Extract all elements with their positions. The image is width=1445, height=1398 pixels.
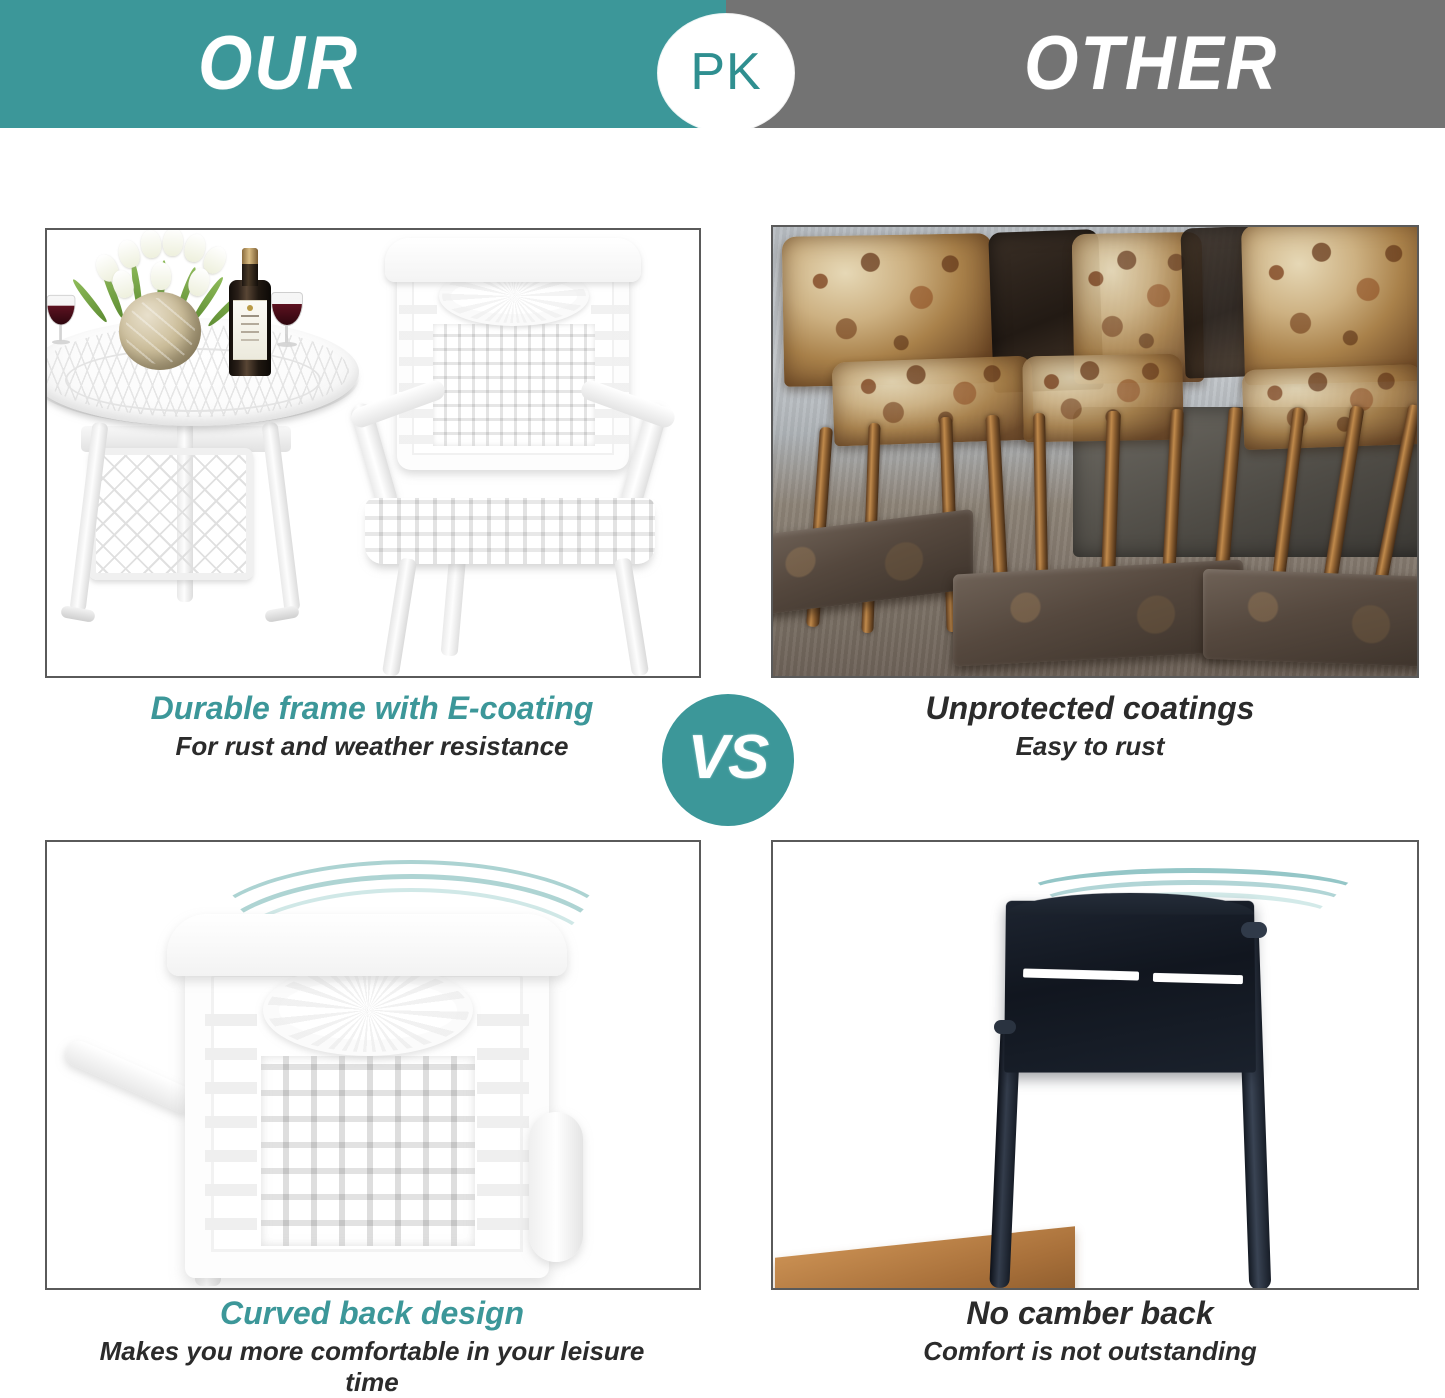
white-chair-back-detail: [157, 914, 587, 1286]
vs-badge: VS: [662, 694, 794, 826]
caption-title: Durable frame with E-coating: [42, 690, 702, 727]
wine-bottle: [229, 248, 271, 376]
wine-glass-left: [47, 295, 76, 347]
caption-subtitle: Comfort is not outstanding: [760, 1336, 1420, 1367]
wooden-seat: [775, 1226, 1075, 1290]
back-slot: [1023, 969, 1139, 981]
header-other-side: OTHER: [726, 0, 1445, 128]
rusty-chair-back-5: [1241, 225, 1419, 385]
caption-our-coating: Durable frame with E-coating For rust an…: [42, 690, 702, 762]
header-other-label: OTHER: [1024, 26, 1278, 102]
table-lattice-brace: [89, 448, 253, 580]
chair-back-lattice: [261, 1056, 475, 1246]
caption-other-coating: Unprotected coatings Easy to rust: [760, 690, 1420, 762]
rusty-chair-back-6: [832, 356, 1035, 447]
flower-vase: [119, 292, 201, 370]
chair-back-medallion: [263, 964, 473, 1056]
rusty-chair-seat-right: [1203, 569, 1419, 667]
caption-subtitle: Easy to rust: [760, 731, 1420, 762]
header-our-label: OUR: [198, 26, 359, 102]
caption-subtitle: For rust and weather resistance: [42, 731, 702, 762]
table-foot-right: [264, 605, 300, 623]
white-armchair: [347, 252, 677, 672]
rusted-chairs-photo: [773, 227, 1417, 676]
panel-other-flat-back-image: [771, 840, 1419, 1290]
chair-back-lattice: [433, 324, 595, 446]
table-foot-left: [60, 605, 96, 623]
vs-badge-label: VS: [688, 727, 769, 789]
panel-our-curved-back-image: [45, 840, 701, 1290]
panel-other-coating-image: [771, 225, 1419, 678]
pk-badge-label: PK: [690, 42, 761, 102]
curved-chair-back-closeup: [47, 842, 699, 1288]
caption-title: Curved back design: [42, 1295, 702, 1332]
header-our-side: OUR: [0, 0, 726, 128]
caption-title: Unprotected coatings: [760, 690, 1420, 727]
flat-back-panel: [1004, 901, 1256, 1073]
dark-flat-chair-back: [973, 890, 1303, 1290]
wine-bottle-label: [233, 300, 267, 360]
white-patio-set-illustration: [47, 230, 699, 676]
rusty-chair-seat-center: [953, 559, 1243, 666]
caption-other-flat-back: No camber back Comfort is not outstandin…: [760, 1295, 1420, 1367]
chair-seat-lattice: [365, 498, 655, 564]
rusty-chair-back-8: [1242, 364, 1419, 450]
wine-glass-right: [271, 292, 303, 350]
panel-our-coating-image: [45, 228, 701, 678]
flat-chair-back-closeup: [773, 842, 1417, 1288]
caption-our-curved-back: Curved back design Makes you more comfor…: [42, 1295, 702, 1398]
pk-badge: PK: [658, 14, 794, 132]
caption-subtitle: Makes you more comfortable in your leisu…: [42, 1336, 702, 1398]
caption-title: No camber back: [760, 1295, 1420, 1332]
rusty-chair-back-7: [1022, 354, 1183, 443]
back-slot: [1153, 973, 1243, 984]
comparison-header: OUR OTHER PK: [0, 0, 1445, 128]
table-top-ring: [65, 348, 321, 412]
